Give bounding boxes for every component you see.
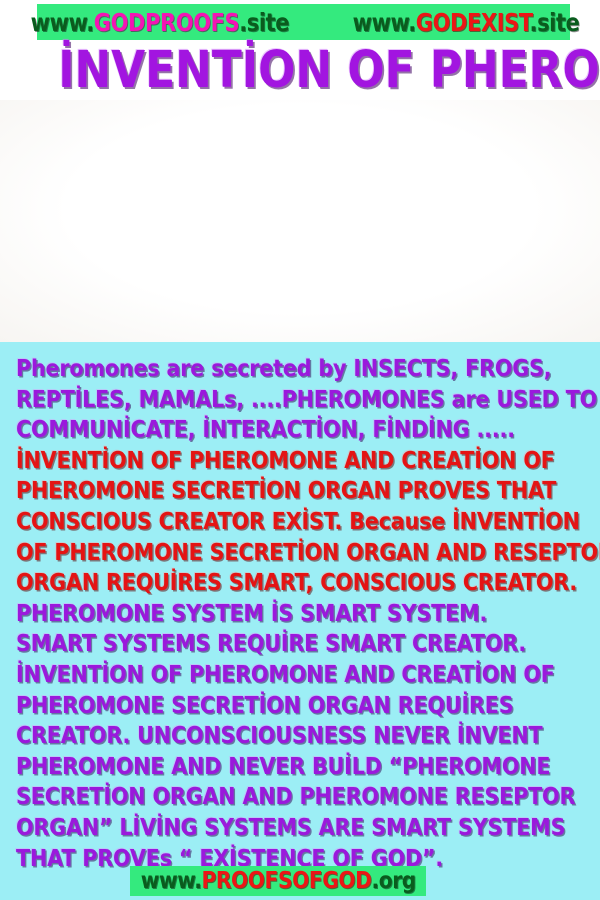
url-prefix: www. — [140, 868, 201, 894]
snake-icon — [478, 208, 600, 336]
grasshopper-icon — [378, 224, 496, 286]
mouse-icon — [230, 200, 354, 268]
body-line: REPTİLES, MAMALs, ....PHEROMONES are USE… — [16, 385, 542, 416]
body-line: COMMUNİCATE, İNTERACTİON, FİNDİNG ..... — [16, 415, 542, 446]
honeybee-icon — [440, 240, 546, 304]
body-text-panel: Pheromones are secreted by INSECTS, FROG… — [0, 342, 600, 900]
url-link-godexist[interactable]: www.GODEXIST.site — [353, 10, 580, 35]
body-line: SMART SYSTEMS REQUİRE SMART CREATOR. — [16, 629, 542, 660]
moth-icon — [136, 218, 240, 274]
mosquito-icon — [392, 104, 522, 212]
praying-mantis-icon — [14, 104, 124, 170]
url-link-proofsofgod[interactable]: www.PROOFSOFGOD.org — [140, 870, 415, 893]
url-suffix: .site — [530, 8, 580, 37]
creature-collage-image — [0, 100, 600, 342]
cockroach-large-icon — [6, 282, 146, 342]
page-title-text: İNVENTİON OF PHEROMONEs — [58, 42, 600, 100]
page-title: İNVENTİON OF PHEROMONEs — [0, 42, 600, 100]
top-url-banner: www.GODPROOFS.site www.GODEXIST.site — [37, 4, 570, 40]
cockroach-dark-icon — [140, 296, 260, 342]
body-line: SECRETİON ORGAN AND PHEROMONE RESEPTOR — [16, 782, 542, 813]
body-line: İNVENTİON OF PHEROMONE AND CREATİON OF — [16, 446, 542, 477]
ant-icon — [510, 108, 598, 164]
body-line: ORGAN” LİVİNG SYSTEMS ARE SMART SYSTEMS — [16, 813, 542, 844]
body-line: CONSCIOUS CREATOR EXİST. Because İNVENTİ… — [16, 507, 542, 538]
body-line: PHEROMONE SYSTEM İS SMART SYSTEM. — [16, 599, 542, 630]
woodlouse-icon — [196, 162, 288, 214]
url-sitename: GODPROOFS — [93, 8, 238, 37]
centipede-icon — [196, 112, 386, 166]
body-line: ORGAN REQUİRES SMART, CONSCIOUS CREATOR. — [16, 568, 542, 599]
body-line: CREATOR. UNCONSCIOUSNESS NEVER İNVENT — [16, 721, 542, 752]
ant-icon — [356, 240, 452, 300]
url-prefix: www. — [30, 8, 93, 37]
beetle-icon — [276, 272, 376, 318]
poster-root: www.GODPROOFS.site www.GODEXIST.site İNV… — [0, 0, 600, 900]
flea-icon — [12, 240, 86, 296]
body-line: İNVENTİON OF PHEROMONE AND CREATİON OF — [16, 660, 542, 691]
body-line: Pheromones are secreted by INSECTS, FROG… — [16, 354, 542, 385]
body-line: PHEROMONE SECRETİON ORGAN PROVES THAT — [16, 476, 542, 507]
body-line: PHEROMONE SECRETİON ORGAN REQUİRES — [16, 691, 542, 722]
larva-grub-icon — [256, 248, 374, 288]
body-text-lines: Pheromones are secreted by INSECTS, FROG… — [16, 354, 600, 874]
wolf-spider-icon — [24, 162, 184, 272]
url-link-godproofs[interactable]: www.GODPROOFS.site — [30, 10, 288, 35]
url-sitename: PROOFSOFGOD — [201, 868, 371, 894]
url-sitename: GODEXIST — [416, 8, 530, 37]
earwig-icon — [496, 164, 592, 204]
body-line: OF PHEROMONE SECRETİON ORGAN AND RESEPTO… — [16, 538, 542, 569]
body-line: PHEROMONE AND NEVER BUİLD “PHEROMONE — [16, 752, 542, 783]
footer-url-banner: www.PROOFSOFGOD.org — [130, 866, 426, 896]
cockroach-small-icon — [340, 296, 458, 342]
scorpion-icon — [488, 158, 600, 254]
url-prefix: www. — [353, 8, 416, 37]
url-suffix: .site — [239, 8, 289, 37]
black-widow-spider-icon — [300, 192, 410, 268]
termite-icon — [120, 196, 166, 250]
url-suffix: .org — [371, 868, 415, 894]
